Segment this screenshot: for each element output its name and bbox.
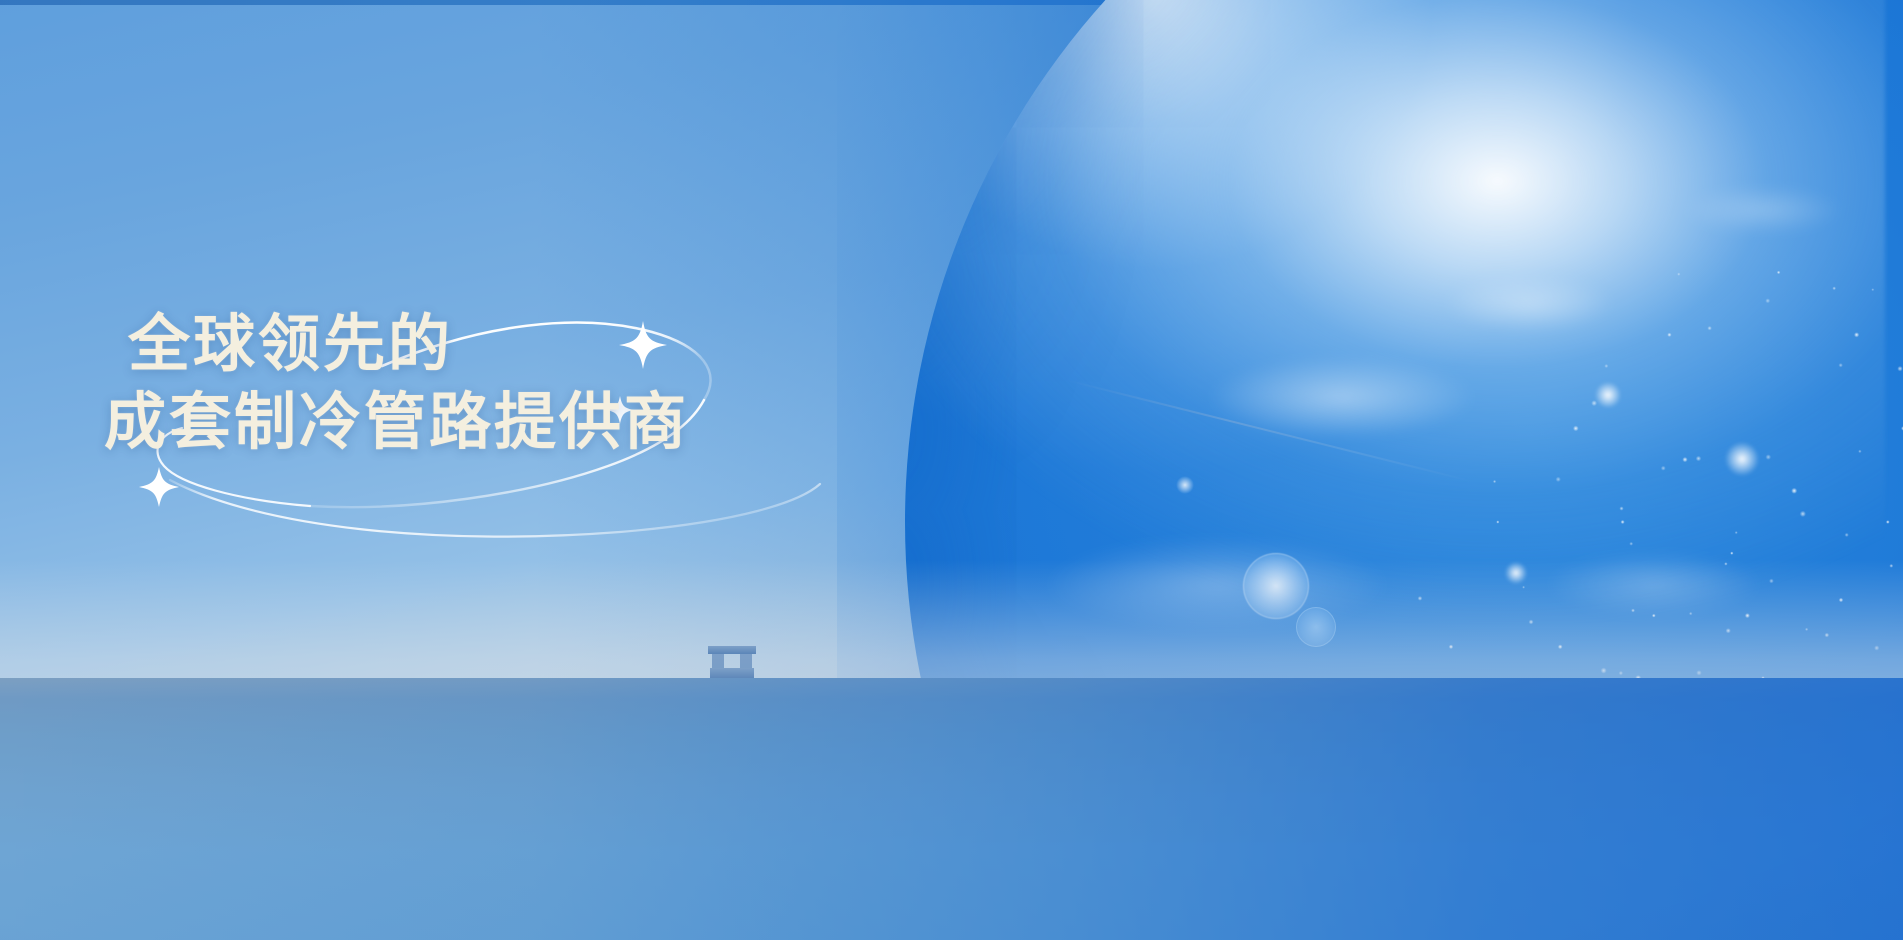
headline-line-1: 全球领先的 [104,306,864,384]
headline-line-2: 成套制冷管路提供商 [104,384,864,462]
landscape-foreground [0,510,1903,940]
hero-banner: 全球领先的 成套制冷管路提供商 [0,0,1903,940]
page-title: 全球领先的 成套制冷管路提供商 [104,306,864,462]
water-blue-tint [0,678,1903,940]
